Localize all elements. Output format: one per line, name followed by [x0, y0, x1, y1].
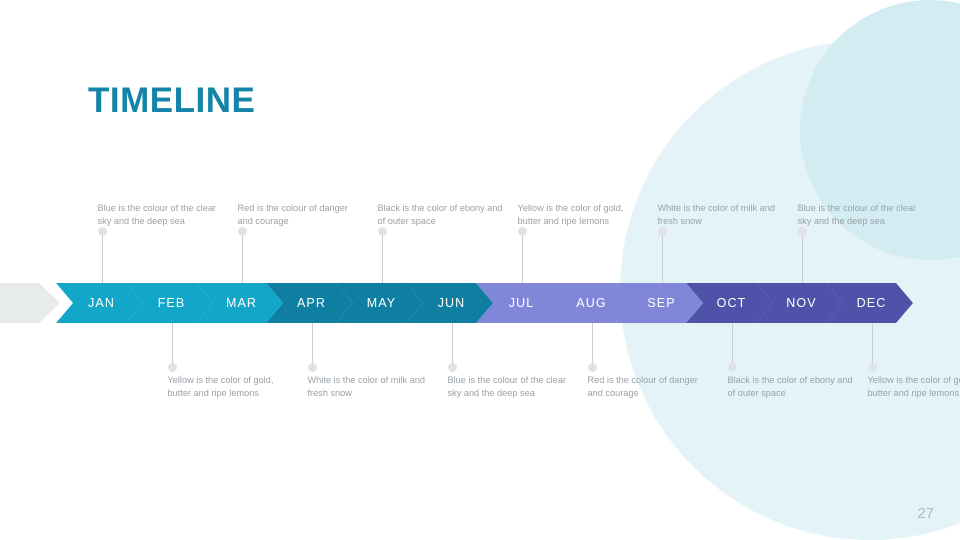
- timeline-caption-dec: Yellow is the color of gold, butter and …: [868, 374, 960, 400]
- timeline-caption-may: Black is the color of ebony and of outer…: [378, 202, 506, 228]
- timeline-segment-label: JAN: [84, 296, 115, 310]
- connector-dot: [518, 227, 527, 236]
- timeline-segment-label: APR: [293, 296, 326, 310]
- timeline-caption-apr: White is the color of milk and fresh sno…: [308, 374, 436, 400]
- timeline-segment-label: JUN: [434, 296, 466, 310]
- timeline-caption-nov: Blue is the colour of the clear sky and …: [798, 202, 926, 228]
- timeline-caption-oct: Black is the color of ebony and of outer…: [728, 374, 856, 400]
- timeline-caption-feb: Yellow is the color of gold, butter and …: [168, 374, 296, 400]
- timeline-segment-label: NOV: [782, 296, 816, 310]
- timeline-segment-label: SEP: [643, 296, 675, 310]
- timeline-caption-jan: Blue is the colour of the clear sky and …: [98, 202, 226, 228]
- timeline-segment-label: JUL: [505, 296, 535, 310]
- connector-dot: [168, 363, 177, 372]
- connector-dot: [588, 363, 597, 372]
- page-number: 27: [917, 505, 934, 522]
- timeline-caption-mar: Red is the colour of danger and courage: [238, 202, 366, 228]
- timeline-caption-jun: Blue is the colour of the clear sky and …: [448, 374, 576, 400]
- timeline-segment-label: OCT: [713, 296, 747, 310]
- timeline-bar: JANFEBMARAPRMAYJUNJULAUGSEPOCTNOVDEC: [0, 283, 960, 323]
- connector-dot: [238, 227, 247, 236]
- slide-canvas: TIMELINE JANFEBMARAPRMAYJUNJULAUGSEPOCTN…: [0, 0, 960, 540]
- connector-dot: [868, 363, 877, 372]
- connector-dot: [378, 227, 387, 236]
- timeline-tail-chevron: [0, 283, 60, 323]
- timeline-caption-jul: Yellow is the color of gold, butter and …: [518, 202, 646, 228]
- connector-dot: [98, 227, 107, 236]
- timeline-segment-label: AUG: [572, 296, 606, 310]
- timeline-segment-label: MAY: [363, 296, 396, 310]
- connector-dot: [448, 363, 457, 372]
- timeline-segment-label: DEC: [853, 296, 887, 310]
- timeline-caption-sep: White is the color of milk and fresh sno…: [658, 202, 786, 228]
- timeline-segment-label: FEB: [154, 296, 186, 310]
- page-title: TIMELINE: [88, 83, 255, 118]
- connector-dot: [798, 227, 807, 236]
- connector-dot: [728, 363, 737, 372]
- timeline-segment-label: MAR: [222, 296, 257, 310]
- connector-dot: [308, 363, 317, 372]
- timeline-segment-jan[interactable]: JAN: [56, 283, 143, 323]
- timeline-caption-aug: Red is the colour of danger and courage: [588, 374, 716, 400]
- connector-dot: [658, 227, 667, 236]
